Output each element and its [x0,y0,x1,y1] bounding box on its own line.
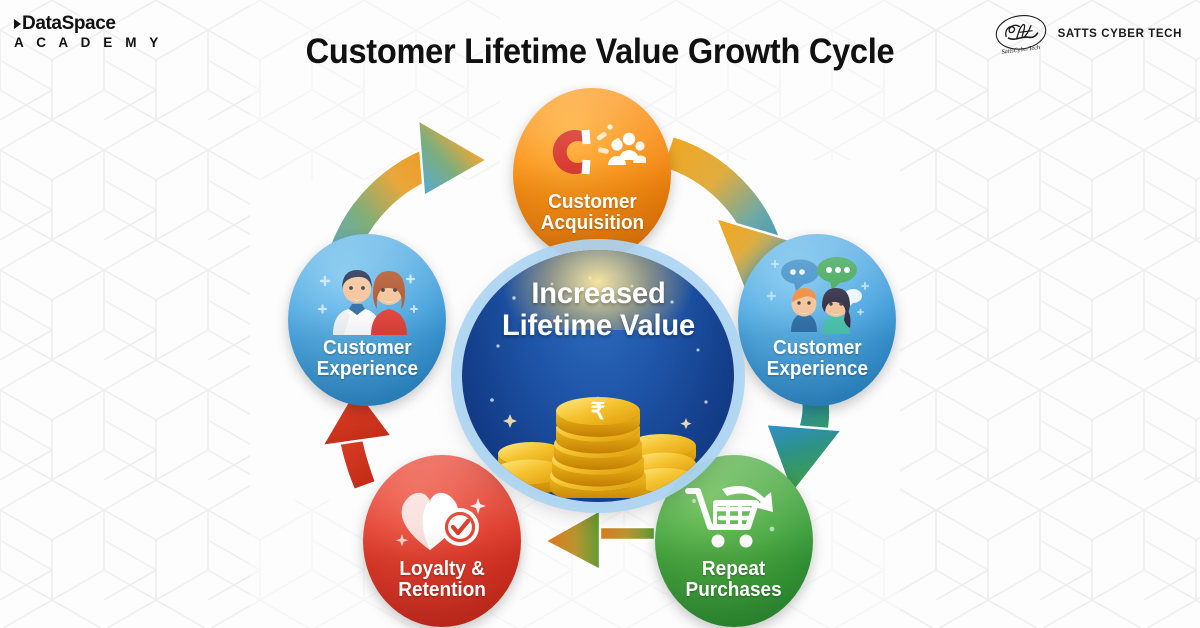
magnet-attract-people-icon [513,112,671,190]
partner-name-label: SATTS CYBER TECH [1058,28,1182,40]
gold-coin-stack-rupee-icon: ₹ [492,386,704,498]
brand-name-row: DataSpace [14,14,163,33]
emblem-subscript-text: SattsCyberTech [1001,44,1040,56]
node-customer-acquisition[interactable]: CustomerAcquisition [513,88,671,260]
brand-name-secondary: A C A D E M Y [14,36,163,50]
arrow-repeat-to-loyalty [545,510,655,570]
dataspace-academy-logo: DataSpace A C A D E M Y [14,14,163,50]
node-label-customer-experience-right: CustomerExperience [766,338,867,380]
satts-script-emblem-icon: SattsCyberTech [992,10,1050,58]
node-label-customer-acquisition: CustomerAcquisition [540,192,643,234]
rupee-symbol: ₹ [591,398,606,424]
node-label-loyalty-retention: Loyalty &Retention [398,559,486,601]
infographic-canvas: DataSpace A C A D E M Y SattsCyberTech S… [0,0,1200,628]
page-title: Customer Lifetime Value Growth Cycle [42,32,1158,72]
node-label-repeat-purchases: RepeatPurchases [686,559,782,601]
two-people-speech-bubbles-icon [738,258,896,336]
node-label-customer-experience-left: CustomerExperience [316,338,417,380]
node-increased-lifetime-value[interactable]: IncreasedLifetime Value [462,250,734,502]
coin-stack-center: ₹ [550,397,646,498]
center-label: IncreasedLifetime Value [501,278,694,342]
node-customer-experience-right[interactable]: CustomerExperience [738,234,896,406]
brand-name-primary: DataSpace [22,14,116,33]
satts-cyber-tech-logo: SattsCyberTech SATTS CYBER TECH [992,10,1182,58]
two-people-couple-icon [288,258,446,336]
node-customer-experience-left[interactable]: CustomerExperience [288,234,446,406]
play-triangle-icon [14,19,21,29]
